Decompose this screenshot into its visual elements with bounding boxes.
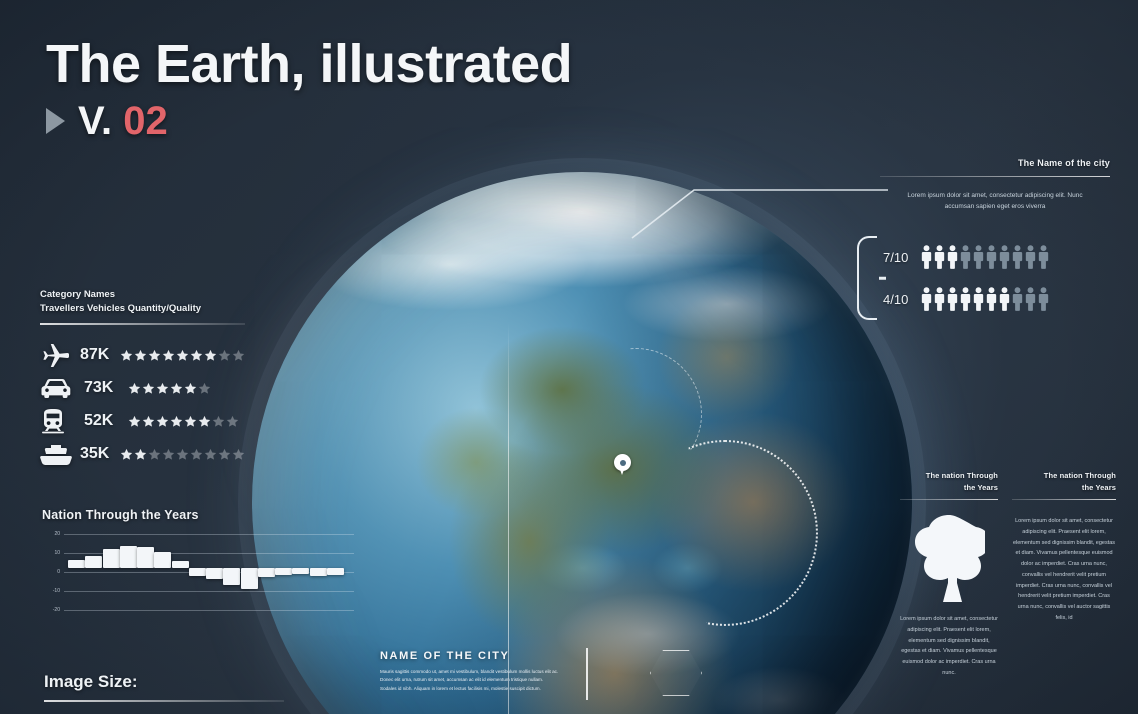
person-icon: [999, 245, 1010, 269]
person-icon: [1012, 287, 1023, 311]
star-icon: [128, 382, 141, 395]
city-callout-divider: [880, 176, 1110, 177]
star-icon: [148, 448, 161, 461]
person-icon: [986, 245, 997, 269]
chart-bar-slot[interactable]: [189, 534, 204, 610]
nation-panel-a-title: The nation Through the Years: [900, 470, 998, 493]
category-value: 52K: [84, 412, 128, 430]
chart-bar: [310, 568, 327, 576]
star-icon: [120, 349, 133, 362]
globe-city-title: NAME OF THE CITY: [380, 650, 610, 662]
infographic-canvas: The Earth, illustrated V. 02 Category Na…: [0, 0, 1138, 714]
category-row-list: 87K73K52K35K: [40, 339, 245, 471]
image-size-block: Image Size:: [44, 672, 284, 702]
population-stats-block: 7/104/10: [857, 236, 1049, 320]
chart-bar-slot[interactable]: [103, 534, 118, 610]
chart-bar: [189, 568, 206, 576]
star-rating[interactable]: [128, 415, 239, 428]
category-row[interactable]: 52K: [40, 405, 245, 438]
chart-tick-label: 0: [42, 569, 60, 575]
nation-b-title-line1: The nation Through: [1012, 470, 1116, 482]
star-icon: [190, 448, 203, 461]
city-callout-panel: The Name of the city Lorem ipsum dolor s…: [880, 158, 1110, 213]
star-icon: [134, 448, 147, 461]
car-icon: [40, 377, 84, 399]
category-value: 73K: [84, 379, 128, 397]
star-icon: [204, 349, 217, 362]
category-panel: Category Names Travellers Vehicles Quant…: [40, 288, 245, 471]
population-ratio-label: 7/10: [883, 250, 921, 265]
category-row[interactable]: 73K: [40, 372, 245, 405]
star-icon: [232, 349, 245, 362]
image-size-divider: [44, 700, 284, 702]
globe-city-label: NAME OF THE CITY Mauris sagittis commodo…: [380, 650, 610, 693]
page-title: The Earth, illustrated: [46, 36, 572, 93]
population-row: 4/10: [883, 278, 1049, 320]
star-rating[interactable]: [120, 448, 245, 461]
triangle-play-icon: [46, 108, 65, 134]
category-row[interactable]: 87K: [40, 339, 245, 372]
chart-bar: [154, 552, 171, 568]
star-icon: [156, 382, 169, 395]
population-row: 7/10: [883, 236, 1049, 278]
star-icon: [176, 349, 189, 362]
chart-bar: [241, 568, 258, 589]
category-divider: [40, 323, 245, 325]
image-size-label: Image Size:: [44, 672, 284, 692]
star-icon: [176, 448, 189, 461]
nation-panel-tree: The nation Through the Years Lorem ipsum…: [900, 470, 998, 679]
chart-bar-slot[interactable]: [120, 534, 135, 610]
chart-bar: [172, 561, 189, 568]
star-rating[interactable]: [120, 349, 245, 362]
version-number: 02: [123, 99, 168, 143]
city-callout-title: The Name of the city: [880, 158, 1110, 168]
person-icon-group: [921, 287, 1049, 311]
star-icon: [148, 349, 161, 362]
chart-bar-group: [68, 534, 342, 610]
nation-panel-b-divider: [1012, 499, 1116, 500]
category-value: 87K: [80, 346, 120, 364]
chart-bar-slot[interactable]: [258, 534, 273, 610]
star-icon: [204, 448, 217, 461]
star-icon: [128, 415, 141, 428]
person-icon: [947, 245, 958, 269]
star-icon: [184, 415, 197, 428]
person-icon: [973, 287, 984, 311]
star-icon: [212, 415, 225, 428]
person-icon: [1038, 287, 1049, 311]
chart-bar: [292, 568, 309, 574]
person-icon: [973, 245, 984, 269]
chart-bar: [258, 568, 275, 577]
star-icon: [198, 382, 211, 395]
nation-a-title-line2: the Years: [900, 482, 998, 494]
star-icon: [170, 382, 183, 395]
airplane-icon: [40, 343, 80, 367]
chart-tick-label: -10: [42, 588, 60, 594]
nation-panel-a-divider: [900, 499, 998, 500]
star-icon: [198, 415, 211, 428]
category-heading-line1: Category Names: [40, 288, 245, 302]
person-icon: [921, 245, 932, 269]
nation-years-chart: Nation Through the Years 20100-10-20: [42, 508, 342, 610]
chart-bar: [275, 568, 292, 575]
chart-tick-label: -20: [42, 607, 60, 613]
earth-globe: [252, 172, 912, 714]
chart-bar: [120, 546, 137, 568]
title-block: The Earth, illustrated V. 02: [46, 36, 572, 144]
chart-bar: [103, 549, 120, 568]
chart-title: Nation Through the Years: [42, 508, 342, 522]
category-heading-line2: Travellers Vehicles Quantity/Quality: [40, 302, 245, 316]
star-icon: [142, 382, 155, 395]
chart-tick-label: 10: [42, 550, 60, 556]
chart-bar-slot[interactable]: [172, 534, 187, 610]
person-icon: [960, 287, 971, 311]
person-icon: [986, 287, 997, 311]
chart-bar-slot[interactable]: [137, 534, 152, 610]
train-icon: [40, 408, 84, 434]
star-icon: [190, 349, 203, 362]
star-icon: [218, 448, 231, 461]
chart-bar-slot[interactable]: [292, 534, 307, 610]
person-icon: [999, 287, 1010, 311]
population-row-list: 7/104/10: [883, 236, 1049, 320]
chart-bar: [327, 568, 344, 575]
nation-a-title-line1: The nation Through: [900, 470, 998, 482]
person-icon: [947, 287, 958, 311]
chart-bar: [223, 568, 240, 585]
category-heading: Category Names Travellers Vehicles Quant…: [40, 288, 245, 316]
nation-panel-text: The nation Through the Years Lorem ipsum…: [1012, 470, 1116, 623]
category-row[interactable]: 35K: [40, 438, 245, 471]
chart-gridline: [64, 610, 354, 611]
star-icon: [170, 415, 183, 428]
nation-panel-b-body: Lorem ipsum dolor sit amet, consectetur …: [1012, 516, 1116, 623]
chart-bar-slot[interactable]: [206, 534, 221, 610]
person-icon: [960, 245, 971, 269]
person-icon-group: [921, 245, 1049, 269]
globe-city-accent-bar: [586, 648, 588, 700]
star-icon: [226, 415, 239, 428]
person-icon: [1038, 245, 1049, 269]
chart-bar: [68, 560, 85, 568]
star-icon: [162, 448, 175, 461]
chart-bar-slot[interactable]: [223, 534, 238, 610]
chart-bar: [206, 568, 223, 579]
ship-icon: [40, 443, 80, 465]
category-value: 35K: [80, 445, 120, 463]
city-callout-body: Lorem ipsum dolor sit amet, consectetur …: [880, 190, 1110, 213]
chart-tick-label: 20: [42, 531, 60, 537]
nation-b-title-line2: the Years: [1012, 482, 1116, 494]
chart-bar-slot[interactable]: [85, 534, 100, 610]
star-icon: [162, 349, 175, 362]
version-row: V. 02: [46, 99, 572, 144]
chart-bar-slot[interactable]: [327, 534, 342, 610]
person-icon: [1025, 287, 1036, 311]
version-label: V. 02: [78, 99, 168, 144]
person-icon: [934, 245, 945, 269]
person-icon: [934, 287, 945, 311]
globe-city-body: Mauris sagittis commodo ut, amet mi vest…: [380, 668, 560, 693]
chart-bar-slot[interactable]: [241, 534, 256, 610]
person-icon: [1025, 245, 1036, 269]
chart-bar-slot[interactable]: [310, 534, 325, 610]
population-ratio-label: 4/10: [883, 292, 921, 307]
star-icon: [134, 349, 147, 362]
star-icon: [120, 448, 133, 461]
chart-bar: [85, 556, 102, 568]
chart-bar-slot[interactable]: [154, 534, 169, 610]
chart-bar: [137, 547, 154, 568]
nation-panel-b-title: The nation Through the Years: [1012, 470, 1116, 493]
chart-bar-slot[interactable]: [275, 534, 290, 610]
person-icon: [1012, 245, 1023, 269]
curly-brace-icon: [857, 236, 877, 320]
chart-plot-area: 20100-10-20: [42, 534, 342, 610]
person-icon: [921, 287, 932, 311]
star-icon: [184, 382, 197, 395]
star-icon: [232, 448, 245, 461]
globe-surface: [252, 172, 912, 714]
nation-panel-a-body: Lorem ipsum dolor sit amet, consectetur …: [900, 614, 998, 678]
star-icon: [218, 349, 231, 362]
tree-icon: [900, 512, 998, 604]
star-rating[interactable]: [128, 382, 211, 395]
chart-bar-slot[interactable]: [68, 534, 83, 610]
star-icon: [142, 415, 155, 428]
version-prefix: V.: [78, 99, 112, 143]
star-icon: [156, 415, 169, 428]
